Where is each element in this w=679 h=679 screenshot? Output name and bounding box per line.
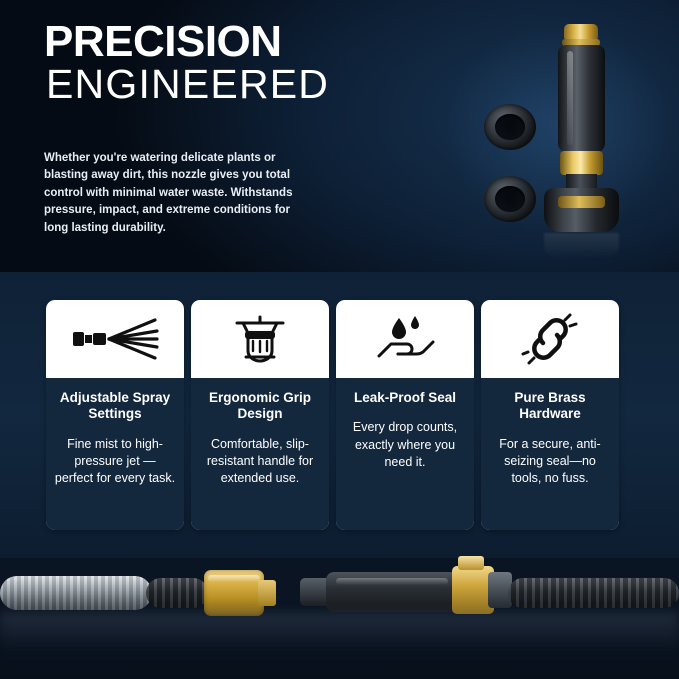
brass-coupler-icon [204, 570, 264, 616]
rubber-washer-icon [484, 176, 536, 222]
nozzle-base [544, 188, 619, 232]
washer-hole [495, 114, 524, 140]
feature-card-body: Adjustable Spray Settings Fine mist to h… [46, 378, 184, 530]
hero-glow [380, 0, 679, 300]
bottom-reflection-glow [0, 612, 679, 652]
product-infographic: PRECISION ENGINEERED Whether you're wate… [0, 0, 679, 679]
feature-title: Leak-Proof Seal [344, 390, 466, 406]
feature-card-body: Ergonomic Grip Design Comfortable, slip-… [191, 378, 329, 530]
rubber-washer-icon [484, 104, 536, 150]
feature-card-leak-proof-seal: Leak-Proof Seal Every drop counts, exact… [336, 300, 474, 530]
chain-link-icon [481, 300, 619, 378]
nozzle-brass-collar [560, 151, 603, 175]
feature-title: Ergonomic Grip Design [199, 390, 321, 423]
headline-primary: PRECISION [44, 20, 282, 64]
brass-tip-icon [258, 580, 276, 606]
washer-hole [495, 186, 524, 212]
nozzle-barrel [558, 45, 605, 153]
brass-fitting-cap-icon [458, 556, 484, 570]
feature-title: Adjustable Spray Settings [54, 390, 176, 423]
feature-description: Comfortable, slip-resistant handle for e… [199, 436, 321, 488]
feature-card-adjustable-spray: Adjustable Spray Settings Fine mist to h… [46, 300, 184, 530]
hose-dark-segment-icon [146, 578, 208, 608]
hero-description: Whether you're watering delicate plants … [44, 150, 312, 237]
spray-pattern-icon [46, 300, 184, 378]
nozzle-base-brass-band [558, 196, 605, 208]
feature-card-list: Adjustable Spray Settings Fine mist to h… [46, 300, 634, 530]
headline-secondary: ENGINEERED [46, 64, 329, 105]
feature-card-body: Leak-Proof Seal Every drop counts, exact… [336, 378, 474, 530]
feature-card-pure-brass-hardware: Pure Brass Hardware For a secure, anti-s… [481, 300, 619, 530]
feature-description: Every drop counts, exactly where you nee… [344, 419, 466, 471]
braided-hose-silver-icon [0, 576, 152, 610]
feature-card-body: Pure Brass Hardware For a secure, anti-s… [481, 378, 619, 530]
feature-cards-section: Adjustable Spray Settings Fine mist to h… [0, 272, 679, 558]
nozzle-reflection [544, 233, 619, 259]
feature-description: Fine mist to high-pressure jet — perfect… [54, 436, 176, 488]
feature-description: For a secure, anti-seizing seal—no tools… [489, 436, 611, 488]
water-drop-hand-icon [336, 300, 474, 378]
nozzle-body-icon [326, 572, 458, 612]
grip-handle-icon [191, 300, 329, 378]
feature-title: Pure Brass Hardware [489, 390, 611, 423]
hero-section: PRECISION ENGINEERED Whether you're wate… [0, 0, 679, 272]
feature-card-ergonomic-grip: Ergonomic Grip Design Comfortable, slip-… [191, 300, 329, 530]
spray-nozzle-product-icon [536, 24, 626, 244]
nozzle-brass-tip [564, 24, 598, 40]
braided-hose-dark-icon [508, 578, 679, 608]
